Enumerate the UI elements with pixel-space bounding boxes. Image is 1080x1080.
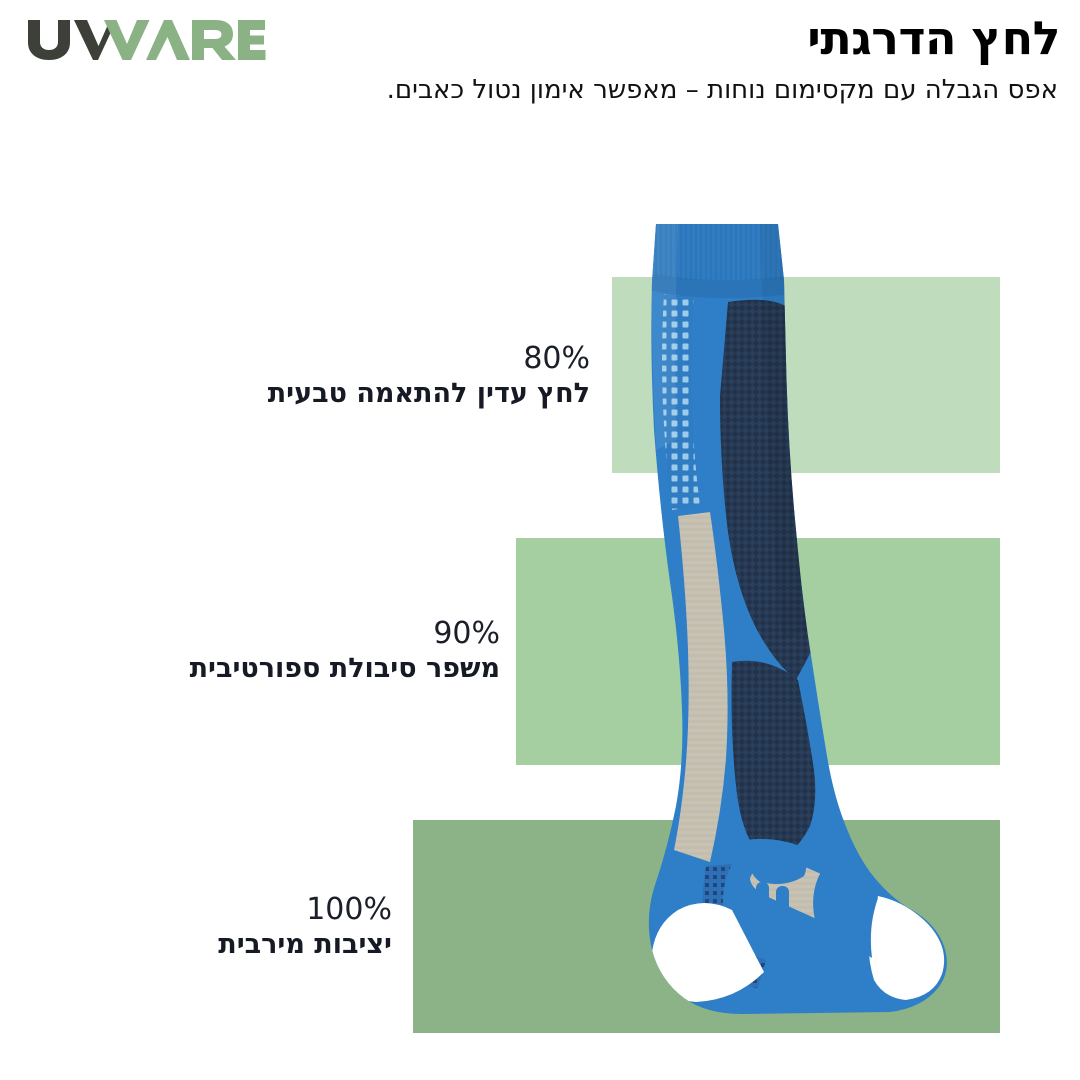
zone-percent: 90% — [190, 617, 500, 651]
zone-label: משפר סיבולת ספורטיבית — [190, 653, 500, 685]
zone-annotation-90: 90% משפר סיבולת ספורטיבית — [190, 617, 500, 685]
page-title: לחץ הדרגתי — [270, 14, 1060, 64]
compression-sock-image — [560, 210, 990, 1060]
zone-annotation-100: 100% יציבות מירבית — [218, 893, 392, 961]
zone-annotation-80: 80% לחץ עדין להתאמה טבעית — [268, 342, 590, 410]
zone-percent: 80% — [268, 342, 590, 376]
header: לחץ הדרגתי אפס הגבלה עם מקסימום נוחות – … — [270, 14, 1060, 109]
poster-canvas: לחץ הדרגתי אפס הגבלה עם מקסימום נוחות – … — [0, 0, 1080, 1080]
zone-label: יציבות מירבית — [218, 929, 392, 961]
zone-percent: 100% — [218, 893, 392, 927]
zone-label: לחץ עדין להתאמה טבעית — [268, 378, 590, 410]
brand-logo[interactable] — [26, 16, 266, 62]
page-subtitle: אפס הגבלה עם מקסימום נוחות – מאפשר אימון… — [270, 72, 1060, 109]
